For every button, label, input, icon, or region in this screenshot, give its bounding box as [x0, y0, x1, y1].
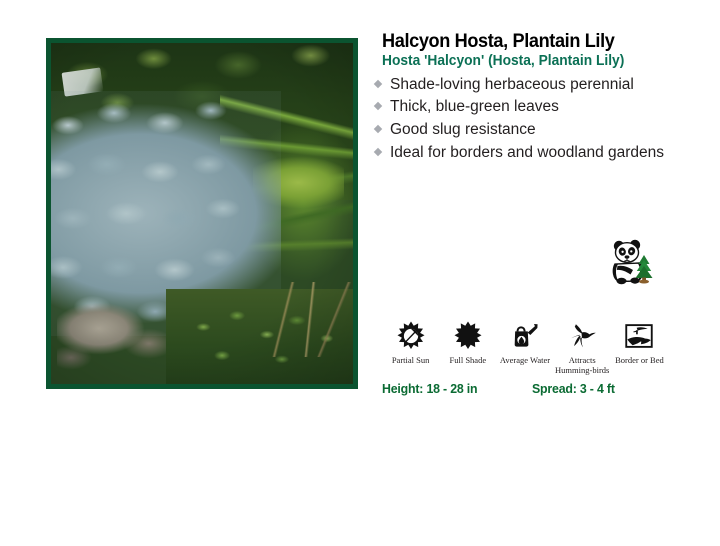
- plant-common-name: Halcyon Hosta, Plantain Lily: [382, 30, 661, 52]
- diamond-bullet-icon: [374, 125, 382, 133]
- attribute-average-water: Average Water: [496, 320, 553, 365]
- plant-size-row: Height: 18 - 28 in Spread: 3 - 4 ft: [382, 381, 642, 396]
- plant-feature-list: Shade-loving herbaceous perennial Thick,…: [372, 75, 682, 202]
- list-item: Thick, blue-green leaves: [372, 97, 682, 118]
- attribute-label: Partial Sun: [383, 355, 438, 365]
- attribute-label: Attracts Humming-birds: [555, 355, 610, 375]
- plant-photo: [51, 43, 353, 384]
- attribute-label: Average Water: [497, 355, 552, 365]
- list-item: Good slug resistance: [372, 120, 682, 141]
- partial-sun-icon: [383, 320, 438, 352]
- full-shade-icon: [440, 320, 495, 352]
- plant-photo-frame: [46, 38, 358, 389]
- diamond-bullet-icon: [374, 147, 382, 155]
- photo-vignette: [51, 43, 353, 384]
- attribute-label: Full Shade: [440, 355, 495, 365]
- diamond-bullet-icon: [374, 80, 382, 88]
- feature-text: Thick, blue-green leaves: [390, 98, 559, 115]
- attribute-partial-sun: Partial Sun: [382, 320, 439, 365]
- feature-text: Good slug resistance: [390, 121, 536, 138]
- panda-holding-conifer-logo: [604, 238, 656, 286]
- feature-text: Shade-loving herbaceous perennial: [390, 76, 634, 93]
- plant-botanical-name: Hosta 'Halcyon' (Hosta, Plantain Lily): [382, 53, 667, 70]
- plant-attribute-icons: Partial Sun Full Shade Average: [382, 320, 668, 375]
- average-water-icon: [497, 320, 552, 352]
- attribute-attracts-hummingbirds: Attracts Humming-birds: [554, 320, 611, 375]
- list-item: Shade-loving herbaceous perennial: [372, 75, 682, 96]
- feature-text: Ideal for borders and woodland gardens: [390, 144, 664, 161]
- plant-info-panel: Halcyon Hosta, Plantain Lily Hosta 'Halc…: [372, 30, 682, 202]
- border-or-bed-icon: [612, 320, 667, 352]
- attribute-full-shade: Full Shade: [439, 320, 496, 365]
- attracts-hummingbirds-icon: [555, 320, 610, 352]
- plant-spread: Spread: 3 - 4 ft: [532, 381, 615, 396]
- plant-height: Height: 18 - 28 in: [382, 381, 525, 396]
- diamond-bullet-icon: [374, 102, 382, 110]
- attribute-border-or-bed: Border or Bed: [611, 320, 668, 365]
- attribute-label: Border or Bed: [612, 355, 667, 365]
- list-item: Ideal for borders and woodland gardens: [372, 143, 682, 164]
